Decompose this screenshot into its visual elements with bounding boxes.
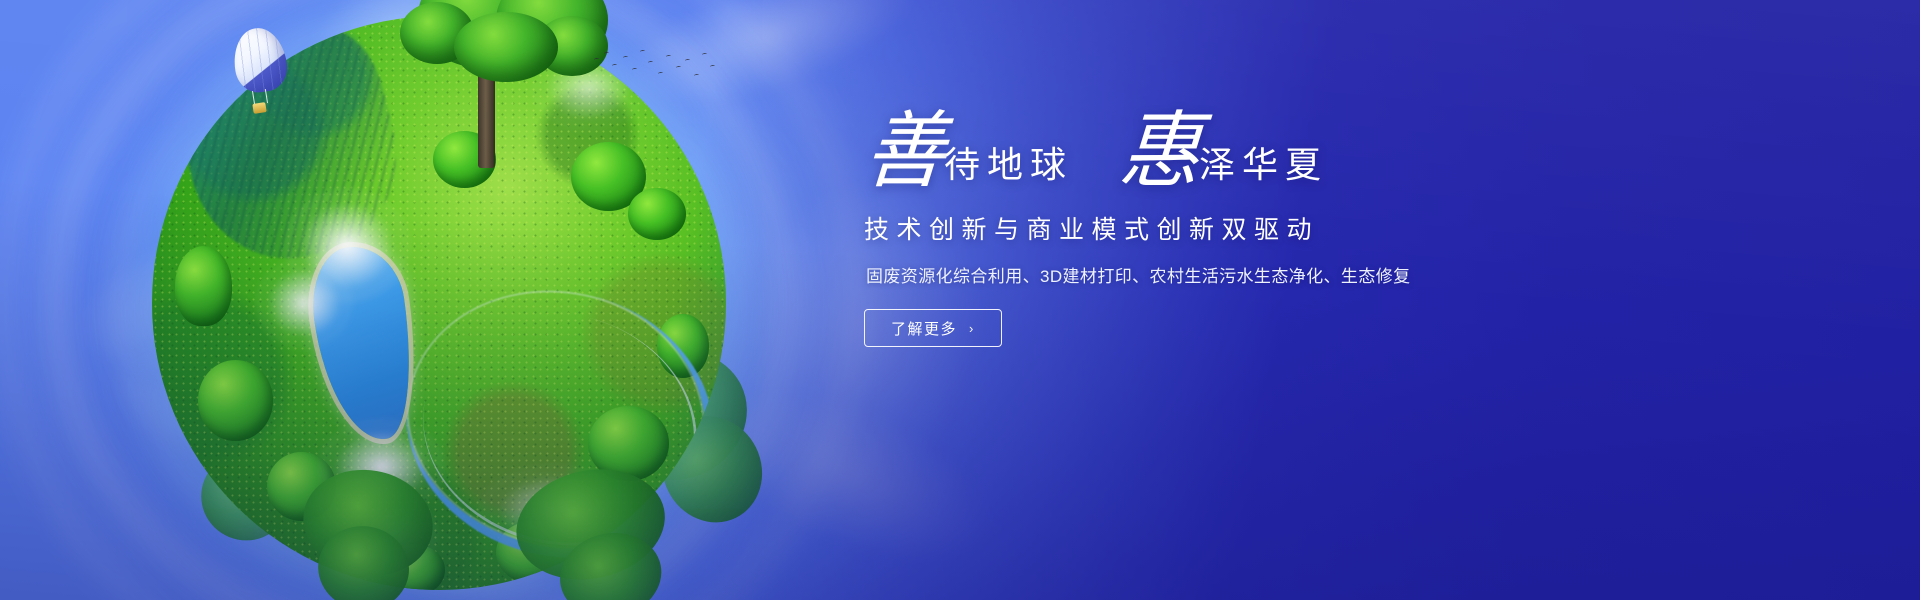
headline-brush-char-1: 善 [862, 110, 948, 194]
page-title: 善 待地球 惠 泽华夏 [862, 118, 1562, 194]
learn-more-label: 了解更多 [891, 318, 957, 339]
headline-plain-1: 待地球 [944, 147, 1073, 183]
hero-content: 善 待地球 惠 泽华夏 技术创新与商业模式创新双驱动 固废资源化综合利用、3D建… [862, 118, 1562, 347]
headline-plain-2: 泽华夏 [1199, 147, 1328, 183]
chevron-right-icon: › [969, 321, 975, 336]
page-description: 固废资源化综合利用、3D建材打印、农村生活污水生态净化、生态修复 [866, 262, 1562, 287]
learn-more-button[interactable]: 了解更多 › [864, 309, 1002, 347]
page-subtitle: 技术创新与商业模式创新双驱动 [864, 210, 1562, 246]
hero-banner: 善 待地球 惠 泽华夏 技术创新与商业模式创新双驱动 固废资源化综合利用、3D建… [0, 0, 1920, 600]
headline-brush-char-2: 惠 [1117, 110, 1203, 194]
